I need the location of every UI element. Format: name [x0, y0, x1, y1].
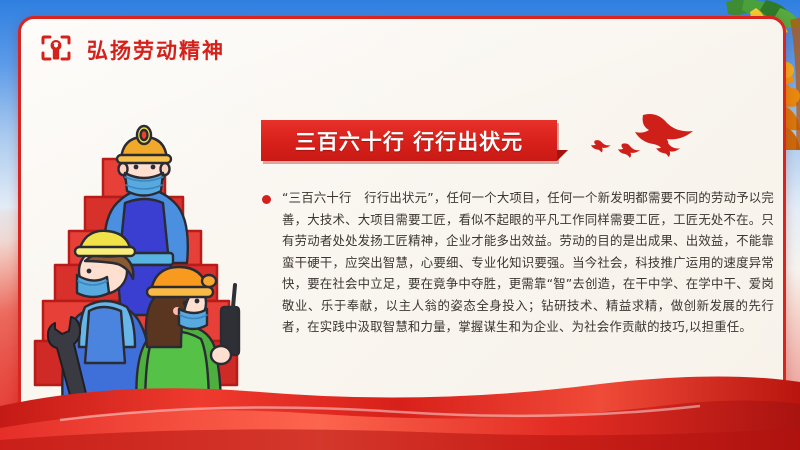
brand-title: 弘扬劳动精神	[87, 35, 225, 65]
wrench-in-frame-icon	[39, 33, 73, 67]
body-paragraph: “三百六十行 行行出状元”，任何一个大项目，任何一个新发明都需要不同的劳动予以完…	[282, 187, 774, 338]
section-title-banner: 三百六十行 行行出状元	[261, 120, 557, 161]
red-ribbon-wave	[0, 366, 800, 450]
section-title: 三百六十行 行行出状元	[261, 120, 557, 161]
content-card: 弘扬劳动精神	[18, 16, 786, 418]
banner-fold-notch	[557, 150, 568, 161]
slide-root: 弘扬劳动精神	[0, 0, 800, 450]
brand-header: 弘扬劳动精神	[39, 33, 225, 67]
flying-doves-icon	[581, 111, 701, 165]
bullet-point-marker	[262, 195, 271, 204]
